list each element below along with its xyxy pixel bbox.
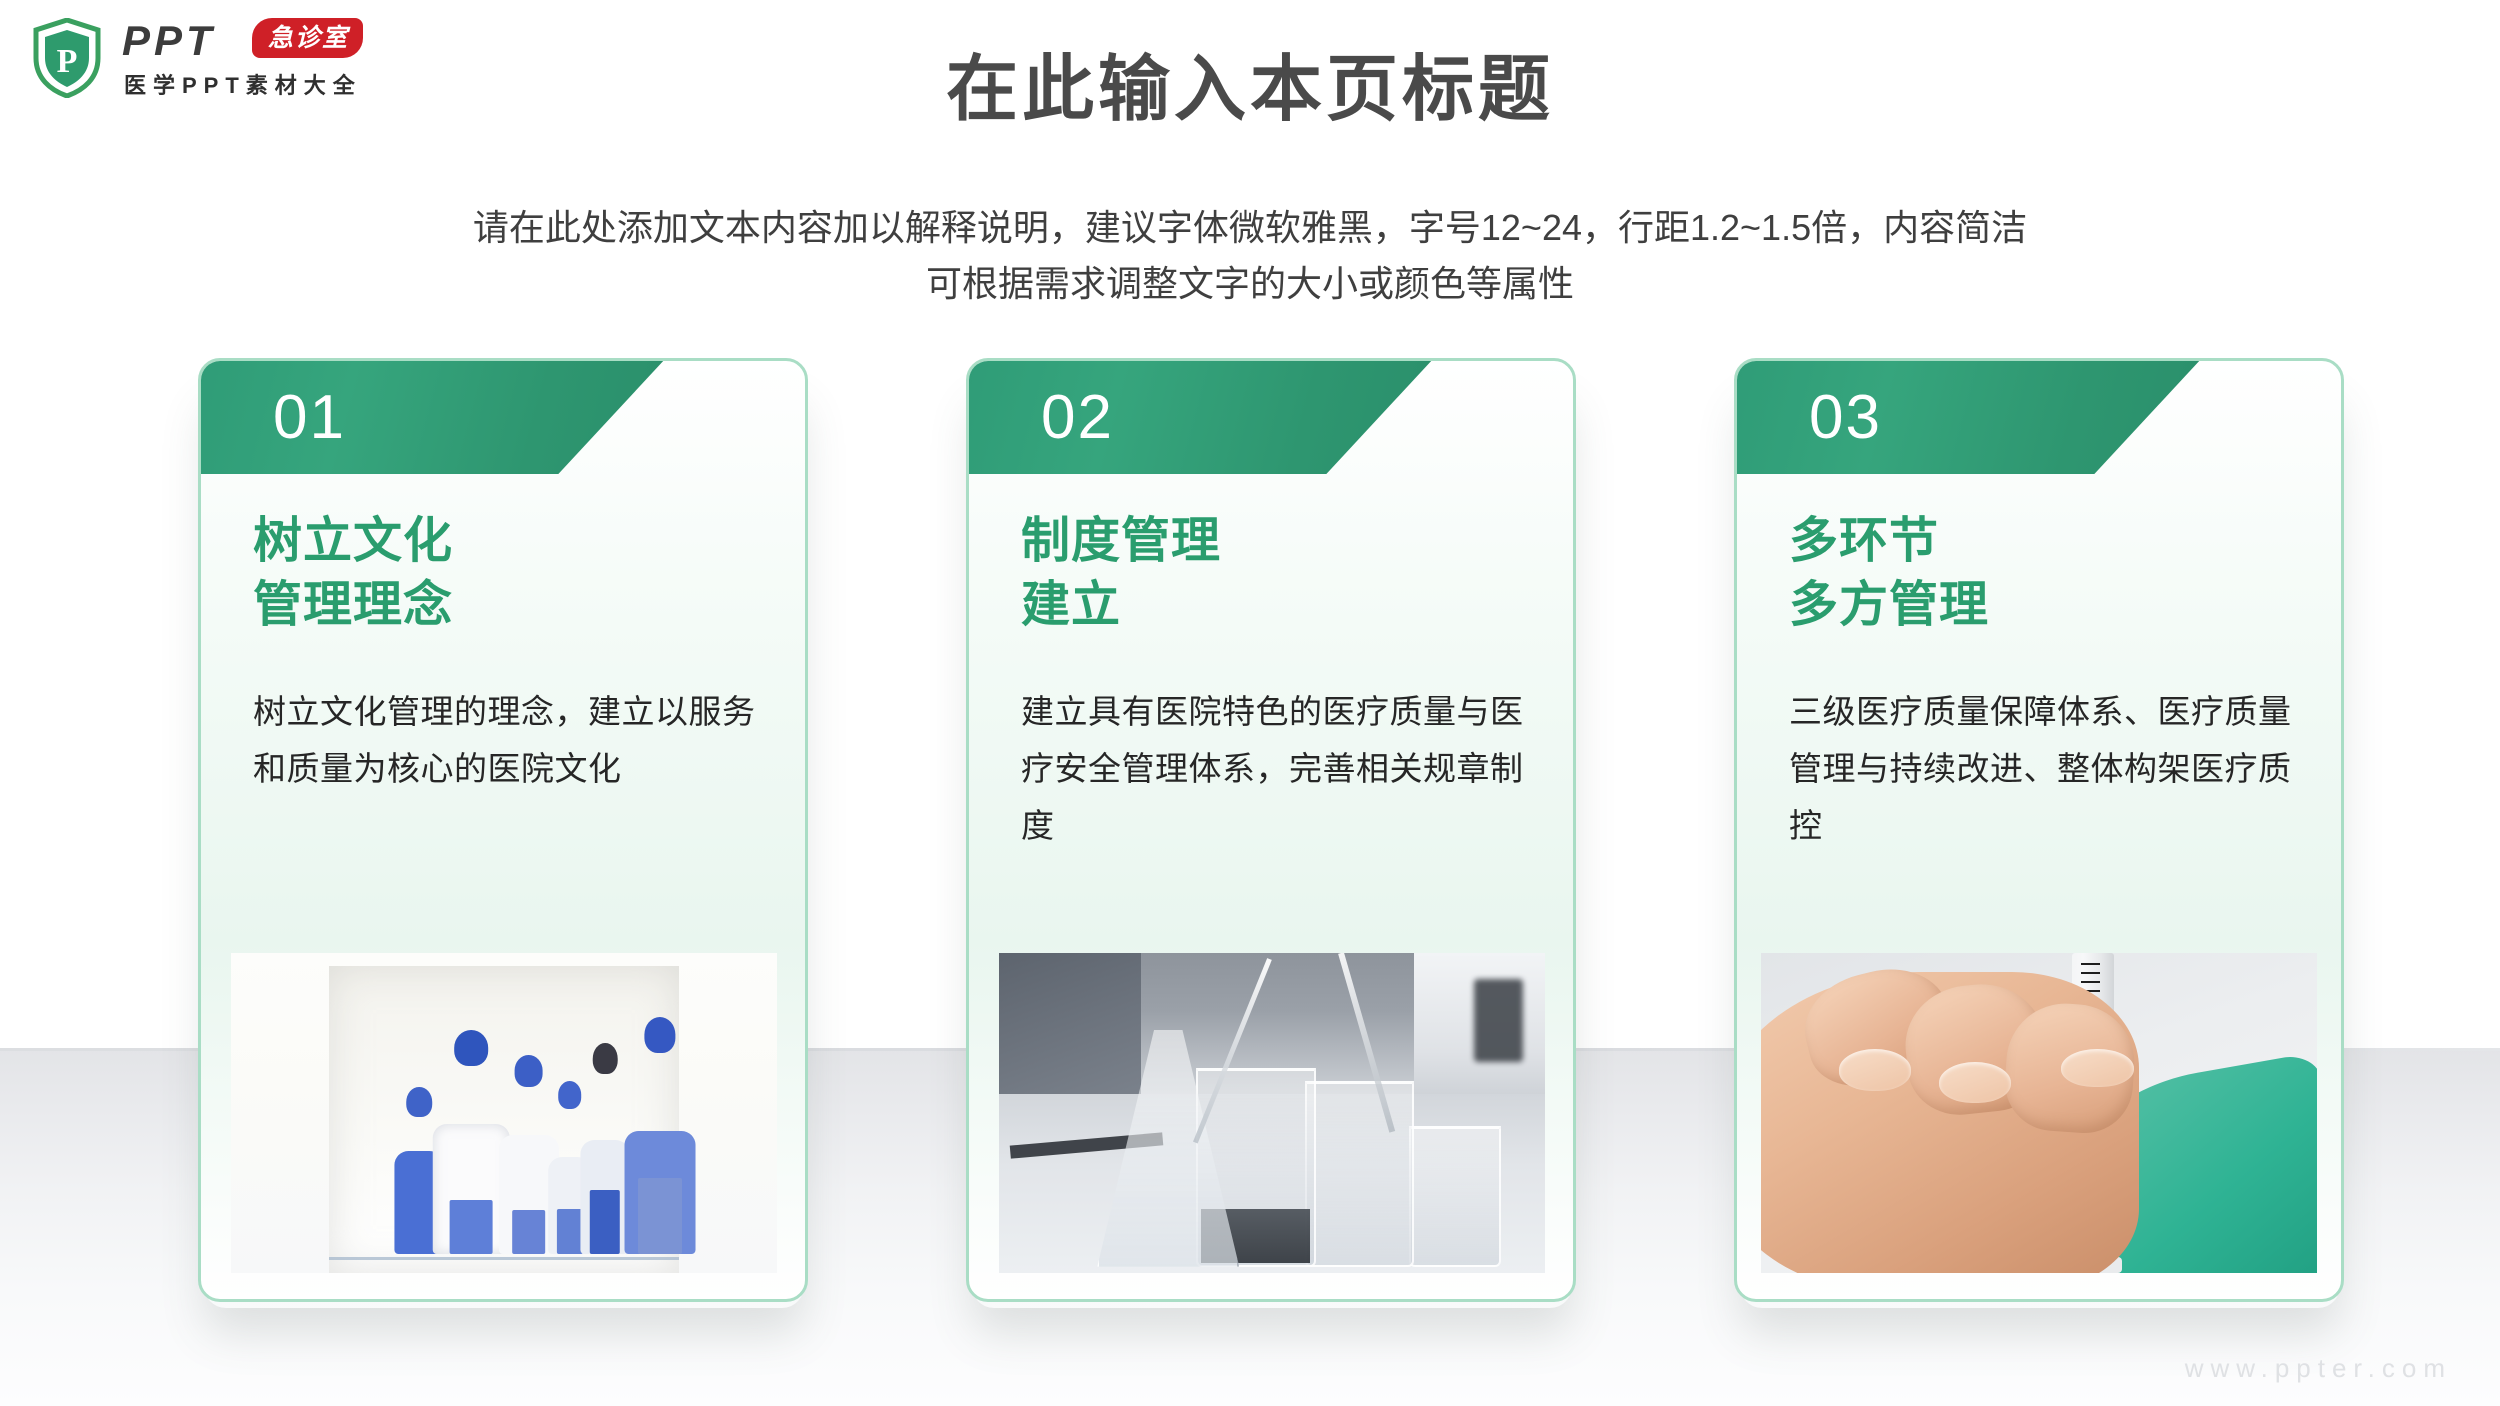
- staff-figure: [580, 1043, 629, 1254]
- card-3-heading-line-1: 多环节: [1789, 509, 2289, 573]
- card-1-heading-line-2: 管理理念: [253, 573, 753, 637]
- corridor-floor-line: [329, 1257, 678, 1260]
- lab-beaker: [1305, 1081, 1414, 1267]
- lab-background-panel: [999, 953, 1141, 1100]
- content-card-3[interactable]: 03 多环节 多方管理 三级医疗质量保障体系、医疗质量管理与持续改进、整体构架医…: [1734, 358, 2344, 1302]
- hospital-corridor-image: [231, 953, 777, 1273]
- card-1-body: 树立文化管理的理念，建立以服务和质量为核心的医院文化: [253, 683, 765, 797]
- card-3-photo: 2 BD: [1761, 953, 2317, 1273]
- card-2-heading: 制度管理 建立: [1021, 509, 1521, 637]
- card-3-heading-line-2: 多方管理: [1789, 573, 2289, 637]
- slide-canvas: P PPT 急诊室 医学PPT素材大全 在此输入本页标题 请在此处添加文本内容加…: [0, 0, 2500, 1406]
- card-1-photo: [231, 953, 777, 1273]
- lab-beaker: [1409, 1126, 1502, 1267]
- card-1-heading-line-1: 树立文化: [253, 509, 753, 573]
- page-title: 在此输入本页标题: [0, 48, 2500, 132]
- lab-glassware-image: [999, 953, 1545, 1273]
- page-subtitle-line-1: 请在此处添加文本内容加以解释说明，建议字体微软雅黑，字号12~24，行距1.2~…: [0, 200, 2500, 256]
- hand-syringe-image: 2 BD: [1761, 953, 2317, 1273]
- fingernail: [1939, 1062, 2011, 1104]
- card-2-body: 建立具有医院特色的医疗质量与医疗安全管理体系，完善相关规章制度: [1021, 683, 1533, 854]
- card-2-number: 02: [1041, 375, 1114, 461]
- card-3-body: 三级医疗质量保障体系、医疗质量管理与持续改进、整体构架医疗质控: [1789, 683, 2301, 854]
- card-2-photo: [999, 953, 1545, 1273]
- card-3-number: 03: [1809, 375, 1882, 461]
- card-2-heading-line-2: 建立: [1021, 573, 1521, 637]
- page-subtitle: 请在此处添加文本内容加以解释说明，建议字体微软雅黑，字号12~24，行距1.2~…: [0, 200, 2500, 312]
- card-1-heading: 树立文化 管理理念: [253, 509, 753, 637]
- page-subtitle-line-2: 可根据需求调整文字的大小或颜色等属性: [0, 256, 2500, 312]
- card-3-ribbon: [1734, 358, 2202, 474]
- card-2-heading-line-1: 制度管理: [1021, 509, 1521, 573]
- fingernail: [1839, 1049, 1911, 1091]
- content-card-2[interactable]: 02 制度管理 建立 建立具有医院特色的医疗质量与医疗安全管理体系，完善相关规章…: [966, 358, 1576, 1302]
- card-2-ribbon: [966, 358, 1434, 474]
- lab-background-object: [1474, 979, 1523, 1062]
- card-1-number: 01: [273, 375, 346, 461]
- card-1-ribbon: [198, 358, 666, 474]
- site-watermark: www.ppter.com: [2185, 1353, 2452, 1384]
- fingernail: [2061, 1049, 2133, 1087]
- card-3-heading: 多环节 多方管理: [1789, 509, 2289, 637]
- staff-figure: [624, 1017, 695, 1254]
- content-card-1[interactable]: 01 树立文化 管理理念 树立文化管理的理念，建立以服务和质量为核心的医院文化: [198, 358, 808, 1302]
